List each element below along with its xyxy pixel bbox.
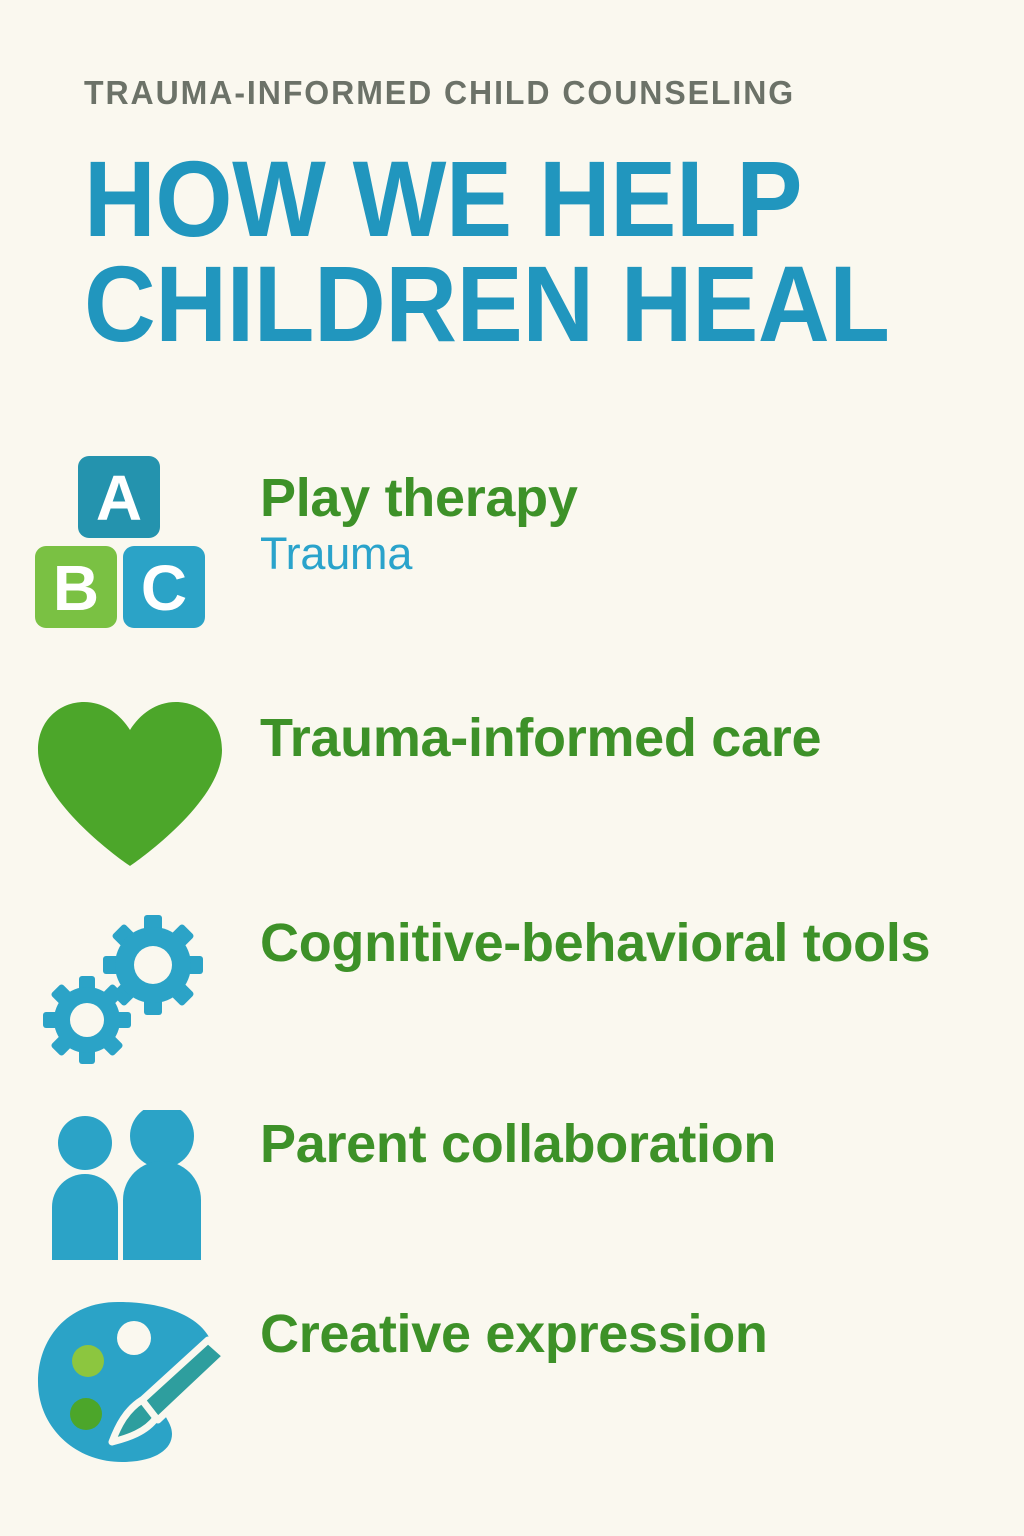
list-item-text: Creative expression xyxy=(260,1290,1024,1363)
heart-icon xyxy=(0,690,260,866)
palette-thumb-hole xyxy=(117,1321,151,1355)
list-item: A B C Play therapy Trauma xyxy=(0,440,1024,690)
page-title: HOW WE HELPCHILDREN HEAL xyxy=(84,147,894,357)
list-item-title: Play therapy xyxy=(260,470,954,527)
list-item-text: Play therapy Trauma xyxy=(260,440,1024,580)
poster-header: TRAUMA-INFORMED CHILD COUNSELING HOW WE … xyxy=(84,76,964,357)
eyebrow-text: TRAUMA-INFORMED CHILD COUNSELING xyxy=(84,76,938,109)
list-item-title: Trauma-informed care xyxy=(260,710,954,767)
abc-blocks-svg: A B C xyxy=(30,446,230,646)
list-item-text: Cognitive-behavioral tools xyxy=(260,905,1024,972)
block-letter-c: C xyxy=(141,552,187,624)
headline-line-2: CHILDREN HEAL xyxy=(84,243,889,364)
list-item: Cognitive-behavioral tools xyxy=(0,905,1024,1100)
people-icon xyxy=(0,1100,260,1260)
block-letter-a: A xyxy=(96,462,142,534)
list-item-title: Parent collaboration xyxy=(260,1116,954,1173)
benefits-list: A B C Play therapy Trauma Trauma-infor xyxy=(0,440,1024,1480)
list-item-text: Trauma-informed care xyxy=(260,690,1024,767)
people-svg xyxy=(40,1110,220,1260)
list-item-subtitle: Trauma xyxy=(260,529,954,579)
palette-icon xyxy=(0,1290,260,1468)
list-item: Creative expression xyxy=(0,1290,1024,1480)
block-letter-b: B xyxy=(53,552,99,624)
palette-svg xyxy=(30,1298,230,1468)
gears-svg xyxy=(35,913,225,1073)
abc-blocks-icon: A B C xyxy=(0,440,260,646)
list-item: Trauma-informed care xyxy=(0,690,1024,905)
list-item-text: Parent collaboration xyxy=(260,1100,1024,1173)
list-item-title: Creative expression xyxy=(260,1306,954,1363)
palette-paint-dot-1 xyxy=(72,1345,104,1377)
heart-svg xyxy=(32,700,228,866)
infographic-poster: TRAUMA-INFORMED CHILD COUNSELING HOW WE … xyxy=(0,0,1024,1536)
list-item: Parent collaboration xyxy=(0,1100,1024,1290)
palette-paint-dot-2 xyxy=(70,1398,102,1430)
headline-line-1: HOW WE HELP xyxy=(84,138,802,259)
list-item-title: Cognitive-behavioral tools xyxy=(260,915,954,972)
gears-icon xyxy=(0,905,260,1073)
